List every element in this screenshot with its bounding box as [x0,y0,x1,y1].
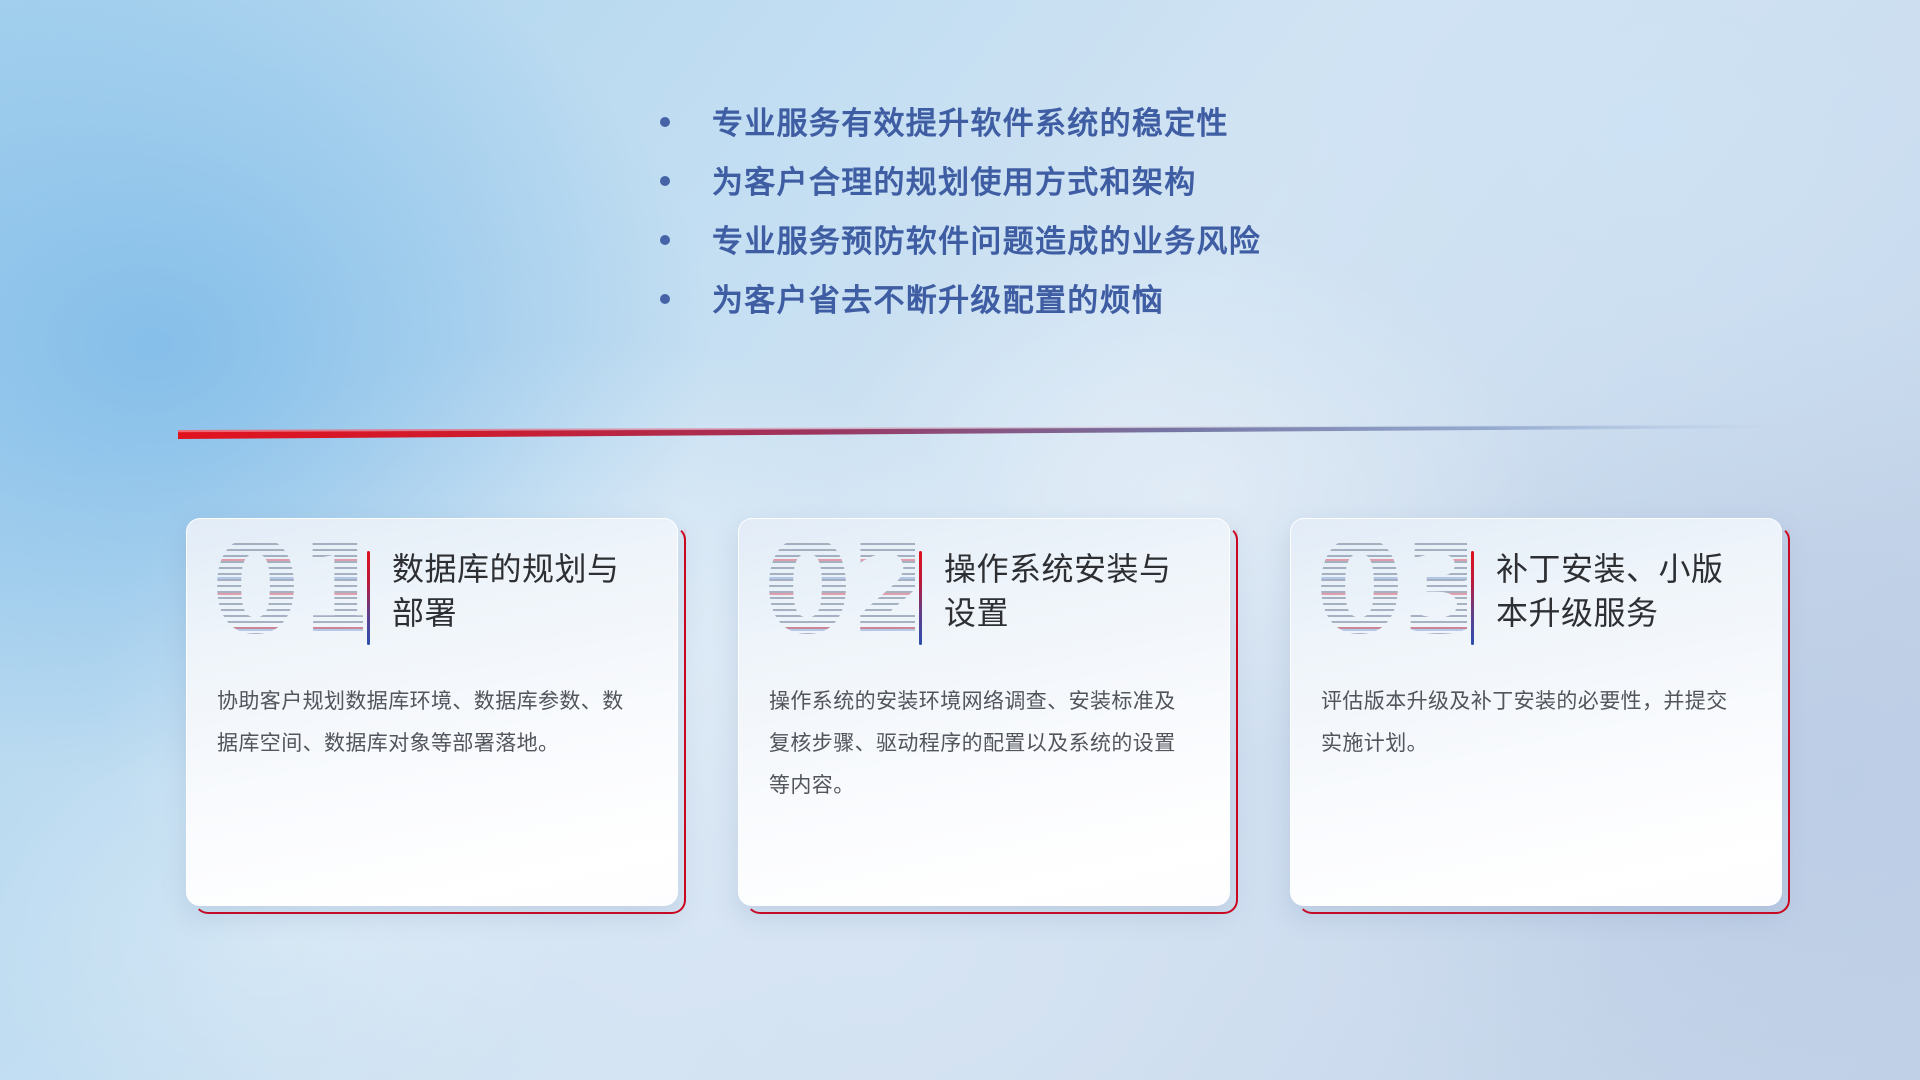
list-item: 为客户合理的规划使用方式和架构 [660,167,1560,198]
service-card-group: 01 01 01 数据库的规划与部署 协助客户规划数据库环境、数据库参数、数据库… [186,518,1782,906]
card-title-rule [919,551,922,645]
bullet-text: 专业服务有效提升软件系统的稳定性 [712,108,1229,139]
section-divider [178,418,1778,440]
bullet-text: 专业服务预防软件问题造成的业务风险 [712,226,1261,257]
card-header: 02 02 02 操作系统安装与设置 [739,519,1229,655]
list-item: 专业服务预防软件问题造成的业务风险 [660,226,1560,257]
bullet-dot-icon [660,117,670,127]
card-number-striped: 03 03 03 [1315,541,1467,659]
card-number-blue-stripes: 03 [1315,541,1467,653]
bullet-text: 为客户合理的规划使用方式和架构 [712,167,1197,198]
card-header: 01 01 01 数据库的规划与部署 [187,519,677,655]
benefits-bullet-list: 专业服务有效提升软件系统的稳定性 为客户合理的规划使用方式和架构 专业服务预防软… [660,108,1560,316]
card-title: 数据库的规划与部署 [392,541,649,635]
card-header: 03 03 03 补丁安装、小版本升级服务 [1291,519,1781,655]
card-number-blue-stripes: 02 [763,541,915,653]
bullet-dot-icon [660,235,670,245]
service-card[interactable]: 03 03 03 补丁安装、小版本升级服务 评估版本升级及补丁安装的必要性，并提… [1290,518,1782,906]
service-card[interactable]: 02 02 02 操作系统安装与设置 操作系统的安装环境网络调查、安装标准及复核… [738,518,1230,906]
bullet-dot-icon [660,294,670,304]
card-number-blue-stripes: 01 [211,541,363,653]
bullet-text: 为客户省去不断升级配置的烦恼 [712,285,1164,316]
card-body-text: 操作系统的安装环境网络调查、安装标准及复核步骤、驱动程序的配置以及系统的设置等内… [739,655,1229,807]
service-card[interactable]: 01 01 01 数据库的规划与部署 协助客户规划数据库环境、数据库参数、数据库… [186,518,678,906]
list-item: 专业服务有效提升软件系统的稳定性 [660,108,1560,139]
card-title-rule [1471,551,1474,645]
card-title: 操作系统安装与设置 [944,541,1201,635]
card-title: 补丁安装、小版本升级服务 [1496,541,1753,635]
list-item: 为客户省去不断升级配置的烦恼 [660,285,1560,316]
bullet-dot-icon [660,176,670,186]
card-number-striped: 01 01 01 [211,541,363,659]
card-body-text: 协助客户规划数据库环境、数据库参数、数据库空间、数据库对象等部署落地。 [187,655,677,765]
card-body-text: 评估版本升级及补丁安装的必要性，并提交实施计划。 [1291,655,1781,765]
card-number-striped: 02 02 02 [763,541,915,659]
card-title-rule [367,551,370,645]
slide-canvas: 专业服务有效提升软件系统的稳定性 为客户合理的规划使用方式和架构 专业服务预防软… [0,0,1920,1080]
